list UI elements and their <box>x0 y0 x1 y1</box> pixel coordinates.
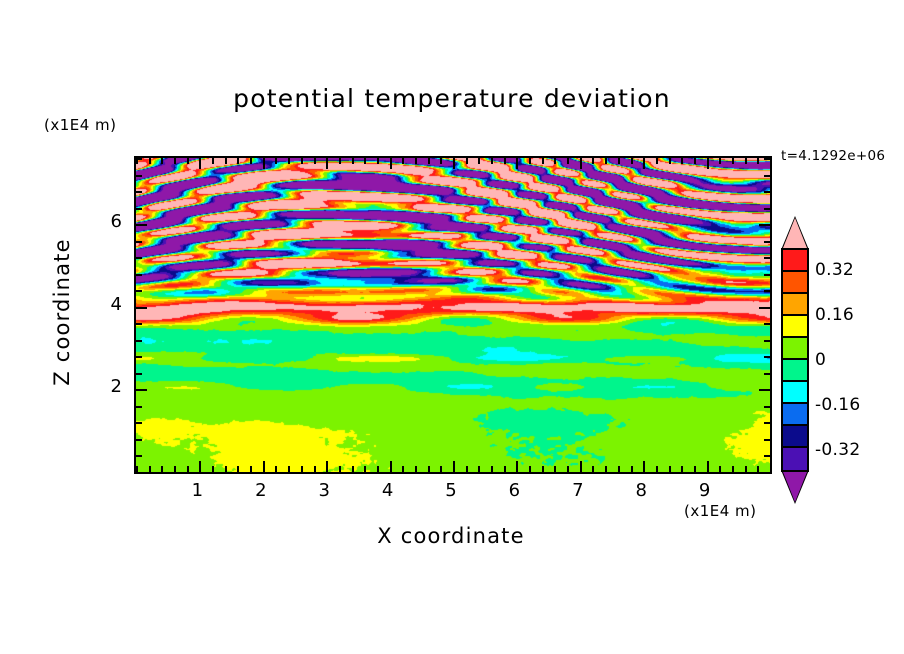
y-tick-label: 4 <box>82 294 122 315</box>
x-major-tick <box>199 461 201 472</box>
x-major-tick <box>199 158 201 169</box>
x-minor-tick <box>301 466 303 472</box>
x-minor-tick <box>440 158 442 164</box>
x-minor-tick <box>745 158 747 164</box>
x-minor-tick <box>149 158 151 164</box>
x-minor-tick <box>149 466 151 472</box>
y-minor-tick <box>764 208 770 210</box>
colorbar-bands <box>781 248 809 472</box>
y-minor-tick <box>136 472 142 474</box>
x-axis-unit-label: (x1E4 m) <box>684 502 757 520</box>
x-minor-tick <box>719 158 721 164</box>
x-minor-tick <box>161 158 163 164</box>
colorbar-band <box>783 272 807 294</box>
colorbar-band <box>783 404 807 426</box>
y-minor-tick <box>764 455 770 457</box>
x-major-tick <box>516 461 518 472</box>
y-major-tick <box>136 224 147 226</box>
y-minor-tick <box>764 290 770 292</box>
x-minor-tick <box>225 158 227 164</box>
y-major-tick <box>759 389 770 391</box>
x-minor-tick <box>212 466 214 472</box>
x-axis-title: X coordinate <box>134 524 768 548</box>
x-major-tick <box>263 461 265 472</box>
x-minor-tick <box>352 158 354 164</box>
y-minor-tick <box>136 439 142 441</box>
x-major-tick <box>516 158 518 169</box>
x-minor-tick <box>250 158 252 164</box>
x-minor-tick <box>542 466 544 472</box>
colorbar-label: 0.32 <box>815 260 854 280</box>
x-minor-tick <box>428 466 430 472</box>
x-major-tick <box>580 158 582 169</box>
x-minor-tick <box>174 158 176 164</box>
x-minor-tick <box>631 466 633 472</box>
y-minor-tick <box>764 175 770 177</box>
x-minor-tick <box>592 466 594 472</box>
x-major-tick <box>453 158 455 169</box>
timestamp-annotation: t=4.1292e+06 <box>781 148 885 164</box>
x-minor-tick <box>364 466 366 472</box>
x-tick-label: 2 <box>241 480 281 501</box>
figure-canvas: potential temperature deviation (x1E4 m)… <box>0 0 904 654</box>
y-minor-tick <box>136 175 142 177</box>
colorbar-top-cap-fill <box>783 218 807 248</box>
y-minor-tick <box>136 191 142 193</box>
contour-plot-area <box>134 156 772 474</box>
x-minor-tick <box>478 466 480 472</box>
y-major-tick <box>136 307 147 309</box>
x-minor-tick <box>529 466 531 472</box>
y-tick-label: 2 <box>82 376 122 397</box>
y-minor-tick <box>764 158 770 160</box>
x-minor-tick <box>770 466 772 472</box>
x-minor-tick <box>656 158 658 164</box>
x-tick-label: 8 <box>621 480 661 501</box>
x-minor-tick <box>491 466 493 472</box>
x-minor-tick <box>288 158 290 164</box>
x-minor-tick <box>554 158 556 164</box>
x-tick-label: 4 <box>368 480 408 501</box>
x-major-tick <box>326 461 328 472</box>
y-axis-unit-label: (x1E4 m) <box>44 116 117 134</box>
x-minor-tick <box>161 466 163 472</box>
x-major-tick <box>263 158 265 169</box>
y-major-tick <box>759 224 770 226</box>
y-major-tick <box>136 389 147 391</box>
x-minor-tick <box>478 158 480 164</box>
x-minor-tick <box>656 466 658 472</box>
contour-field-canvas <box>136 158 770 472</box>
y-minor-tick <box>764 439 770 441</box>
x-minor-tick <box>491 158 493 164</box>
colorbar-band <box>783 316 807 338</box>
colorbar-bottom-cap-arrow <box>781 470 809 504</box>
x-minor-tick <box>669 158 671 164</box>
y-minor-tick <box>136 455 142 457</box>
x-minor-tick <box>694 466 696 472</box>
y-minor-tick <box>136 422 142 424</box>
y-tick-label: 6 <box>82 211 122 232</box>
x-minor-tick <box>364 158 366 164</box>
colorbar-top-cap-arrow <box>781 216 809 250</box>
x-minor-tick <box>314 158 316 164</box>
x-minor-tick <box>554 466 556 472</box>
x-major-tick <box>643 158 645 169</box>
x-minor-tick <box>415 158 417 164</box>
x-minor-tick <box>440 466 442 472</box>
colorbar-label: -0.32 <box>815 440 861 460</box>
x-minor-tick <box>339 158 341 164</box>
x-minor-tick <box>275 158 277 164</box>
y-minor-tick <box>136 356 142 358</box>
x-major-tick <box>707 158 709 169</box>
x-minor-tick <box>187 158 189 164</box>
x-minor-tick <box>237 466 239 472</box>
x-major-tick <box>643 461 645 472</box>
y-minor-tick <box>136 323 142 325</box>
x-tick-label: 9 <box>685 480 725 501</box>
x-minor-tick <box>757 158 759 164</box>
x-tick-label: 6 <box>494 480 534 501</box>
colorbar-band <box>783 250 807 272</box>
y-minor-tick <box>764 356 770 358</box>
x-minor-tick <box>681 158 683 164</box>
x-tick-label: 5 <box>431 480 471 501</box>
x-minor-tick <box>618 466 620 472</box>
x-minor-tick <box>618 158 620 164</box>
x-minor-tick <box>681 466 683 472</box>
x-tick-label: 7 <box>558 480 598 501</box>
x-minor-tick <box>719 466 721 472</box>
x-minor-tick <box>770 158 772 164</box>
y-minor-tick <box>764 422 770 424</box>
y-minor-tick <box>136 340 142 342</box>
x-minor-tick <box>504 158 506 164</box>
y-minor-tick <box>764 472 770 474</box>
y-axis-title: Z coordinate <box>50 192 74 432</box>
colorbar: 0.320.160-0.16-0.32 <box>781 216 811 504</box>
y-minor-tick <box>764 241 770 243</box>
x-minor-tick <box>428 158 430 164</box>
colorbar-band <box>783 426 807 448</box>
x-minor-tick <box>631 158 633 164</box>
x-major-tick <box>453 461 455 472</box>
x-minor-tick <box>187 466 189 472</box>
colorbar-label: -0.16 <box>815 395 861 415</box>
x-minor-tick <box>314 466 316 472</box>
y-minor-tick <box>136 274 142 276</box>
y-minor-tick <box>136 241 142 243</box>
x-minor-tick <box>415 466 417 472</box>
x-minor-tick <box>529 158 531 164</box>
y-minor-tick <box>764 323 770 325</box>
x-minor-tick <box>757 466 759 472</box>
x-minor-tick <box>402 466 404 472</box>
colorbar-band <box>783 294 807 316</box>
y-minor-tick <box>136 406 142 408</box>
x-minor-tick <box>377 466 379 472</box>
x-major-tick <box>580 461 582 472</box>
x-minor-tick <box>567 158 569 164</box>
x-minor-tick <box>288 466 290 472</box>
colorbar-band <box>783 448 807 470</box>
y-minor-tick <box>764 406 770 408</box>
x-major-tick <box>390 461 392 472</box>
y-minor-tick <box>764 340 770 342</box>
x-minor-tick <box>567 466 569 472</box>
x-major-tick <box>707 461 709 472</box>
x-minor-tick <box>669 466 671 472</box>
colorbar-bottom-cap-fill <box>783 472 807 502</box>
x-minor-tick <box>466 158 468 164</box>
x-minor-tick <box>174 466 176 472</box>
x-minor-tick <box>694 158 696 164</box>
x-minor-tick <box>402 158 404 164</box>
colorbar-band <box>783 338 807 360</box>
colorbar-band <box>783 360 807 382</box>
colorbar-label: 0 <box>815 350 826 370</box>
colorbar-band <box>783 382 807 404</box>
y-minor-tick <box>764 274 770 276</box>
x-minor-tick <box>301 158 303 164</box>
y-major-tick <box>759 307 770 309</box>
y-minor-tick <box>764 373 770 375</box>
x-minor-tick <box>542 158 544 164</box>
y-minor-tick <box>136 373 142 375</box>
x-minor-tick <box>504 466 506 472</box>
x-tick-label: 3 <box>304 480 344 501</box>
x-minor-tick <box>339 466 341 472</box>
x-minor-tick <box>732 158 734 164</box>
x-minor-tick <box>732 466 734 472</box>
x-minor-tick <box>592 158 594 164</box>
x-major-tick <box>390 158 392 169</box>
x-minor-tick <box>225 466 227 472</box>
x-major-tick <box>326 158 328 169</box>
x-minor-tick <box>212 158 214 164</box>
x-minor-tick <box>466 466 468 472</box>
page-title: potential temperature deviation <box>0 84 904 113</box>
x-minor-tick <box>377 158 379 164</box>
x-minor-tick <box>605 158 607 164</box>
x-minor-tick <box>237 158 239 164</box>
y-minor-tick <box>764 191 770 193</box>
y-minor-tick <box>764 257 770 259</box>
x-minor-tick <box>352 466 354 472</box>
x-minor-tick <box>745 466 747 472</box>
y-minor-tick <box>136 208 142 210</box>
colorbar-label: 0.16 <box>815 305 854 325</box>
x-minor-tick <box>275 466 277 472</box>
y-minor-tick <box>136 290 142 292</box>
x-tick-label: 1 <box>177 480 217 501</box>
y-minor-tick <box>136 257 142 259</box>
x-minor-tick <box>250 466 252 472</box>
y-minor-tick <box>136 158 142 160</box>
x-minor-tick <box>605 466 607 472</box>
